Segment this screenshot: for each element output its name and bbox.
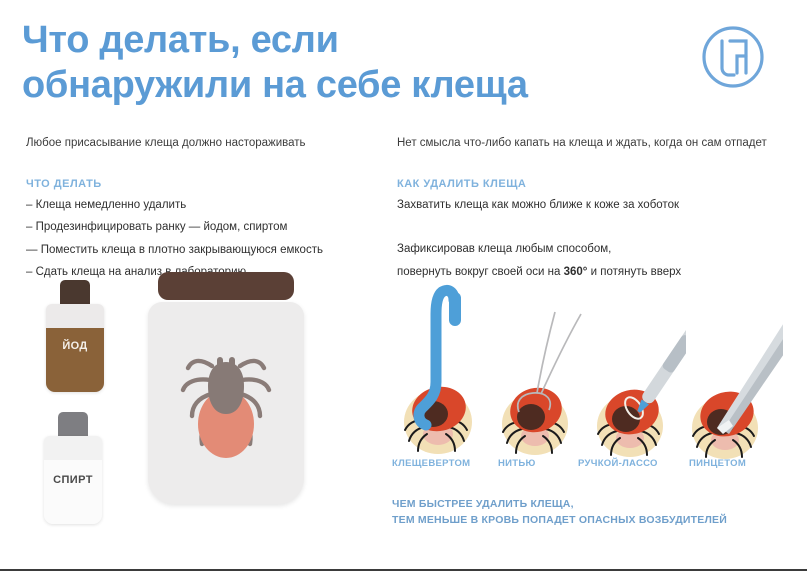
- rotate-instruction-line-1: Зафиксировав клеща любым способом,: [397, 244, 792, 256]
- alcohol-liquid: [44, 460, 102, 524]
- left-text-column: Любое присасывание клеща должно настораж…: [26, 136, 376, 290]
- jar-glass-body: [148, 302, 304, 504]
- page-title-line-2: обнаружили на себе клеща: [22, 63, 662, 108]
- list-item: – Клеща немедленно удалить: [26, 200, 376, 212]
- organization-logo-icon: [700, 24, 766, 90]
- spacer: [397, 222, 792, 244]
- list-item: — Поместить клеща в плотно закрывающуюся…: [26, 245, 376, 257]
- list-item: – Продезинфицировать ранку — йодом, спир…: [26, 222, 376, 234]
- alcohol-bottle-label: СПИРТ: [44, 474, 102, 486]
- method-tweezers-illustration: [683, 262, 783, 462]
- page-title-line-1: Что делать, если: [22, 18, 662, 63]
- method-thread-illustration: [489, 262, 589, 462]
- iodine-bottle-cap: [60, 280, 90, 306]
- method-lasso-pen-illustration: [586, 262, 686, 462]
- disinfectants-and-jar-illustration: ЙОД СПИРТ: [20, 272, 370, 532]
- jar-lid: [158, 272, 294, 300]
- what-to-do-list: – Клеща немедленно удалить – Продезинфиц…: [26, 200, 376, 279]
- footer-line-1: ЧЕМ БЫСТРЕЕ УДАЛИТЬ КЛЕЩА,: [392, 496, 792, 512]
- what-to-do-heading: ЧТО ДЕЛАТЬ: [26, 178, 376, 190]
- method-tick-twister-illustration: [392, 262, 492, 462]
- iodine-bottle-label: ЙОД: [46, 340, 104, 352]
- alcohol-bottle-icon: СПИРТ: [44, 412, 102, 524]
- method-labels-row: КЛЕЩЕВЕРТОМ НИТЬЮ РУЧКОЙ-ЛАССО ПИНЦЕТОМ: [392, 458, 792, 474]
- tick-removal-infographic-poster: Что делать, если обнаружили на себе клещ…: [0, 0, 807, 571]
- footer-line-2: ТЕМ МЕНЬШЕ В КРОВЬ ПОПАДЕТ ОПАСНЫХ ВОЗБУ…: [392, 512, 792, 528]
- tick-in-jar-icon: [148, 302, 304, 504]
- removal-methods-illustration: [392, 262, 792, 462]
- method-label-tweezers: ПИНЦЕТОМ: [689, 458, 746, 469]
- iodine-bottle-icon: ЙОД: [46, 280, 104, 392]
- grab-tick-instruction: Захватить клеща как можно ближе к коже з…: [397, 200, 792, 212]
- iodine-liquid: [46, 328, 104, 392]
- how-to-remove-heading: КАК УДАЛИТЬ КЛЕЩА: [397, 178, 792, 190]
- sealed-jar-icon: [148, 272, 304, 504]
- method-label-lasso-pen: РУЧКОЙ-ЛАССО: [578, 458, 658, 469]
- right-lead-text: Нет смысла что-либо капать на клеща и жд…: [397, 136, 792, 152]
- page-title: Что делать, если обнаружили на себе клещ…: [22, 18, 662, 108]
- method-label-tick-twister: КЛЕЩЕВЕРТОМ: [392, 458, 470, 469]
- method-label-thread: НИТЬЮ: [498, 458, 536, 469]
- alcohol-bottle-cap: [58, 412, 88, 438]
- left-lead-text: Любое присасывание клеща должно настораж…: [26, 136, 376, 152]
- footer-warning: ЧЕМ БЫСТРЕЕ УДАЛИТЬ КЛЕЩА, ТЕМ МЕНЬШЕ В …: [392, 496, 792, 529]
